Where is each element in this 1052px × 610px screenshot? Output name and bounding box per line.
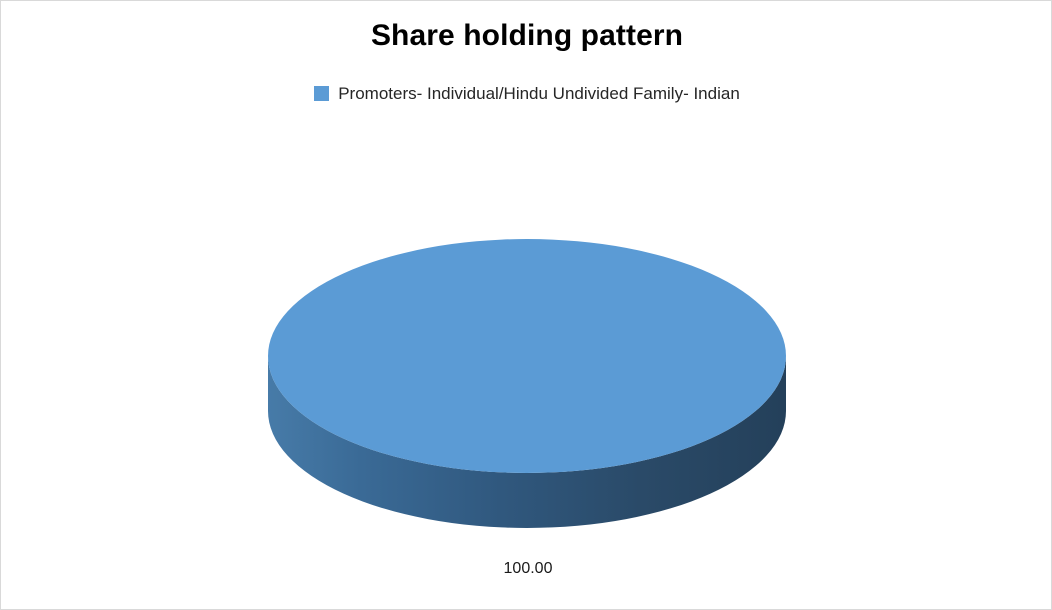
legend-entry-promoters[interactable]: Promoters- Individual/Hindu Undivided Fa… xyxy=(314,85,740,102)
chart-canvas: Share holding pattern Promoters- Individ… xyxy=(0,0,1052,610)
pie-data-label: 100.00 xyxy=(428,559,628,578)
legend-item-label: Promoters- Individual/Hindu Undivided Fa… xyxy=(338,85,740,102)
legend-swatch-square-icon xyxy=(314,86,329,101)
chart-legend: Promoters- Individual/Hindu Undivided Fa… xyxy=(1,85,1052,102)
pie-slice-promoters[interactable] xyxy=(268,239,786,473)
pie-3d-graphic xyxy=(1,121,1052,591)
plot-area xyxy=(1,121,1052,591)
chart-title: Share holding pattern xyxy=(1,18,1052,54)
